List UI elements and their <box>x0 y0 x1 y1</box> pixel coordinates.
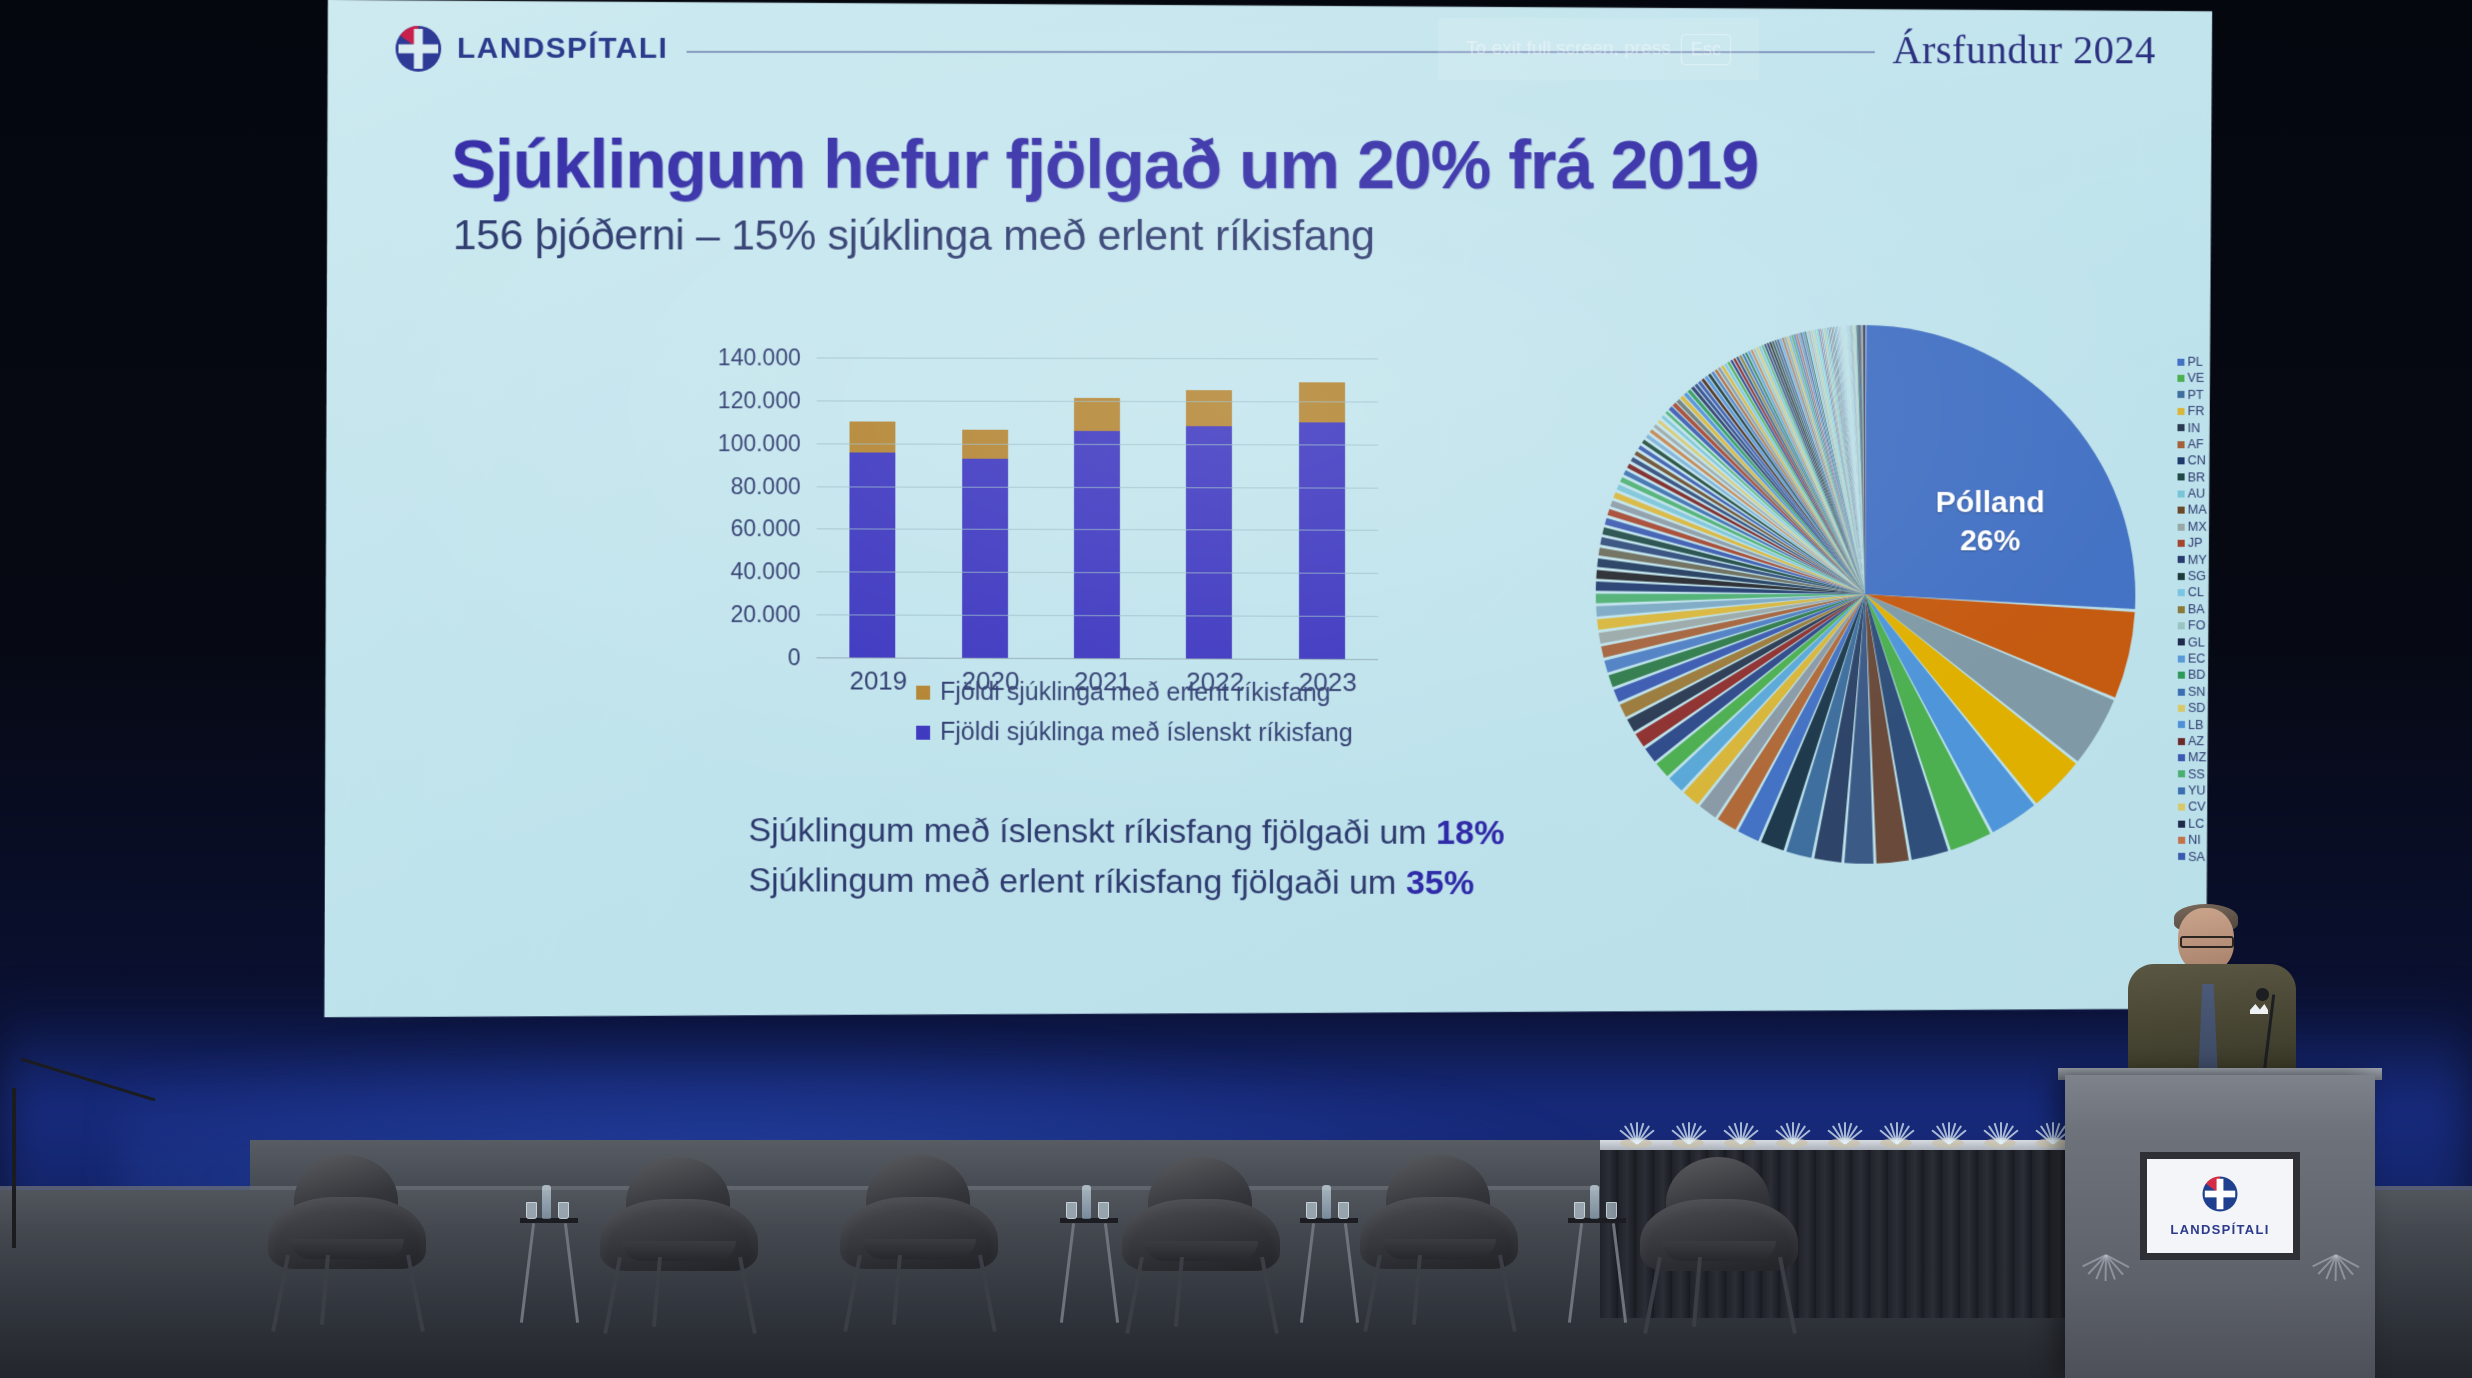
pie-legend-swatch <box>2178 589 2185 596</box>
y-axis-tick-label: 120.000 <box>718 387 801 414</box>
pie-legend-country-code: NI <box>2188 834 2201 847</box>
brand-name: LANDSPÍTALI <box>457 32 668 66</box>
pie-legend-country-code: GL <box>2188 636 2205 649</box>
pie-legend-country-code: AU <box>2188 488 2206 501</box>
bar-chart-legend: Fjöldi sjúklinga með erlent ríkisfangFjö… <box>916 678 1353 760</box>
bar-column <box>1186 358 1232 659</box>
side-table-leg <box>520 1223 535 1323</box>
conference-room-scene: LANDSPÍTALI Ársfundur 2024 To exit full … <box>0 0 2472 1378</box>
pie-legend-item: MX <box>2178 519 2214 536</box>
projection-screen: LANDSPÍTALI Ársfundur 2024 To exit full … <box>321 0 2214 1026</box>
pie-legend-swatch <box>2177 358 2184 365</box>
pie-legend-country-code: BA <box>2188 603 2205 616</box>
armchair-seat <box>1144 1241 1258 1261</box>
pie-legend-swatch <box>2178 804 2185 811</box>
pie-legend-country-code: FR <box>2188 405 2205 418</box>
pie-legend-country-code: SG <box>2188 570 2206 583</box>
pie-legend-swatch <box>2178 688 2185 695</box>
pie-legend-swatch <box>2177 408 2184 415</box>
slide-header: LANDSPÍTALI Ársfundur 2024 <box>394 18 2156 80</box>
boom-mic-stand <box>12 1088 16 1248</box>
pie-legend-item: LC <box>2178 816 2214 833</box>
podium-burst-right <box>2305 1225 2365 1285</box>
pie-legend-item: FO <box>2178 618 2214 635</box>
pie-legend-item: CV <box>2178 799 2214 816</box>
podium-brand-sign: LANDSPÍTALI <box>2140 1152 2300 1260</box>
nationality-pie-chart: Pólland 26% <box>1594 323 2138 867</box>
legend-swatch <box>916 685 930 699</box>
pie-legend-country-code: IN <box>2188 422 2201 435</box>
bar-segment-foreign <box>1299 382 1345 423</box>
water-glass <box>1098 1202 1109 1219</box>
y-axis-tick-label: 20.000 <box>730 601 800 628</box>
podium-brand-name: LANDSPÍTALI <box>2170 1222 2269 1237</box>
statement-text: Sjúklingum með íslenskt ríkisfang fjölga… <box>749 811 1437 852</box>
water-glass <box>526 1202 537 1219</box>
event-name: Ársfundur 2024 <box>1892 26 2155 73</box>
legend-item: Fjöldi sjúklinga með erlent ríkisfang <box>916 678 1353 708</box>
pie-legend-item: AZ <box>2178 733 2214 750</box>
pie-legend-country-code: BR <box>2188 471 2206 484</box>
statement-text: Sjúklingum með erlent ríkisfang fjölgaði… <box>748 861 1405 902</box>
statement-foreign-citizens: Sjúklingum með erlent ríkisfang fjölgaði… <box>748 861 1474 903</box>
bar-segment-foreign <box>1074 398 1120 431</box>
bar-segment-icelandic <box>850 453 896 658</box>
pie-legend-item: MY <box>2178 552 2214 569</box>
pie-legend-country-code: SS <box>2188 768 2205 781</box>
pie-legend-swatch <box>2178 787 2185 794</box>
water-bottle <box>1082 1185 1091 1219</box>
y-axis-tick-label: 140.000 <box>718 344 801 371</box>
speaker-person <box>2122 908 2302 1083</box>
pie-legend-swatch <box>2177 441 2184 448</box>
side-table-leg <box>1568 1223 1583 1323</box>
legend-label: Fjöldi sjúklinga með erlent ríkisfang <box>940 678 1330 708</box>
microphone-icon <box>2256 988 2269 1001</box>
bar-chart-y-axis: 020.00040.00060.00080.000100.000120.0001… <box>699 343 807 671</box>
gift-bouquet <box>1716 1114 1764 1148</box>
armchair <box>1360 1155 1518 1305</box>
pie-legend-country-code: AZ <box>2188 735 2204 748</box>
water-glass <box>1574 1202 1585 1219</box>
legend-label: Fjöldi sjúklinga með íslenskt ríkisfang <box>940 718 1353 748</box>
side-table <box>1060 1218 1118 1328</box>
pie-legend-swatch <box>2178 507 2185 514</box>
bar-segment-icelandic <box>962 458 1008 658</box>
statement-icelandic-citizens: Sjúklingum með íslenskt ríkisfang fjölga… <box>749 811 1505 853</box>
pie-legend-item: PL <box>2177 354 2213 371</box>
pie-legend-swatch <box>2178 573 2185 580</box>
pie-legend-item: GL <box>2178 634 2214 651</box>
podium-burst-left <box>2075 1225 2135 1285</box>
pie-legend-swatch <box>2178 655 2185 662</box>
pie-legend-item: MA <box>2178 502 2214 519</box>
pie-legend-item: MZ <box>2178 750 2214 767</box>
pie-legend-item: BD <box>2178 667 2214 684</box>
pie-legend-country-code: MY <box>2188 554 2207 567</box>
x-axis-tick-label: 2019 <box>850 665 896 696</box>
armchair <box>1640 1157 1798 1307</box>
side-table-leg <box>1344 1223 1359 1323</box>
pie-legend-item: SA <box>2178 849 2214 866</box>
bar-column <box>1074 358 1120 658</box>
gift-bouquet <box>1612 1114 1660 1148</box>
pie-chart-svg <box>1594 323 2138 867</box>
brand-lockup: LANDSPÍTALI <box>394 24 669 74</box>
pie-legend-country-code: AF <box>2188 438 2204 451</box>
eyeglasses-icon <box>2180 936 2234 948</box>
pie-legend-swatch <box>2178 820 2185 827</box>
pie-legend-swatch <box>2177 375 2184 382</box>
pie-legend-country-code: JP <box>2188 537 2203 550</box>
header-divider-rule <box>686 51 1874 53</box>
pie-legend-item: CN <box>2178 453 2214 470</box>
pie-legend-country-code: BD <box>2188 669 2206 682</box>
pie-legend-item: AU <box>2178 486 2214 503</box>
pie-legend-swatch <box>2178 556 2185 563</box>
podium-landspitali-logo-icon <box>2201 1175 2239 1218</box>
y-axis-tick-label: 60.000 <box>731 515 801 542</box>
pie-legend-swatch <box>2178 490 2185 497</box>
pie-legend-swatch <box>2178 639 2185 646</box>
pie-legend-item: AF <box>2177 436 2213 453</box>
pie-legend-item: EC <box>2178 651 2214 668</box>
pie-legend-swatch <box>2178 771 2185 778</box>
bar-column <box>962 358 1008 658</box>
pie-legend-country-code: PT <box>2188 389 2204 402</box>
armchair-seat <box>862 1239 976 1259</box>
gift-bouquet <box>1664 1114 1712 1148</box>
armchair-seat <box>622 1241 736 1261</box>
gift-bouquet <box>1924 1114 1972 1148</box>
armchair-seat <box>1662 1241 1776 1261</box>
side-table-leg <box>1104 1223 1119 1323</box>
bar-segment-icelandic <box>1186 426 1232 659</box>
armchair-seat <box>1382 1239 1496 1259</box>
water-bottle <box>542 1185 551 1219</box>
slide-subtitle: 156 þjóðerni – 15% sjúklinga með erlent … <box>453 211 1375 261</box>
pie-chart-legend: PLUSLTROUAVEGBLVPHDEPTESVNDKITFRSYPSHRIQ… <box>2177 354 2213 866</box>
armchair <box>268 1155 426 1305</box>
pie-legend-swatch <box>2178 672 2185 679</box>
pie-legend-swatch <box>2178 540 2185 547</box>
statement-value: 35% <box>1406 864 1474 902</box>
pie-legend-swatch <box>2178 606 2185 613</box>
pie-legend-country-code: MZ <box>2188 751 2206 764</box>
pie-legend-country-code: FO <box>2188 620 2206 633</box>
pie-legend-swatch <box>2177 391 2184 398</box>
bar-chart-plot-area <box>816 357 1378 659</box>
side-table <box>1300 1218 1358 1328</box>
gift-bouquet <box>1976 1114 2024 1148</box>
stacked-bar-chart: 020.00040.00060.00080.000100.000120.0001… <box>699 357 1378 659</box>
pie-legend-country-code: CN <box>2188 455 2206 468</box>
pie-legend-item: LB <box>2178 717 2214 734</box>
pie-legend-country-code: LC <box>2188 818 2204 831</box>
bar-segment-icelandic <box>1299 423 1345 659</box>
pie-legend-country-code: CL <box>2188 587 2204 600</box>
armchair <box>1122 1157 1280 1307</box>
pie-legend-swatch <box>2178 853 2185 860</box>
pie-legend-country-code: YU <box>2188 785 2206 798</box>
pie-legend-country-code: CV <box>2188 801 2206 814</box>
bar-segment-foreign <box>1186 390 1232 425</box>
pie-legend-item: SD <box>2178 700 2214 717</box>
pie-legend-swatch <box>2178 457 2185 464</box>
pie-legend-swatch <box>2178 754 2185 761</box>
water-glass <box>1306 1202 1317 1219</box>
presentation-slide: LANDSPÍTALI Ársfundur 2024 To exit full … <box>321 0 2214 1026</box>
y-axis-tick-label: 80.000 <box>731 472 801 499</box>
pie-legend-swatch <box>2177 424 2184 431</box>
pie-legend-country-code: EC <box>2188 652 2206 665</box>
side-table-leg <box>1300 1223 1315 1323</box>
side-table-leg <box>1060 1223 1075 1323</box>
pie-legend-country-code: PL <box>2187 356 2202 369</box>
pie-legend-item: IN <box>2177 420 2213 437</box>
side-table-leg <box>564 1223 579 1323</box>
pie-slice-percent: 26% <box>1936 522 2045 560</box>
bar-segment-foreign <box>850 422 896 453</box>
pie-legend-item: BR <box>2178 469 2214 486</box>
pie-legend-country-code: MX <box>2188 521 2207 534</box>
water-glass <box>558 1202 569 1219</box>
side-table <box>1568 1218 1626 1328</box>
water-bottle <box>1590 1185 1599 1219</box>
gift-bouquet <box>1768 1114 1816 1148</box>
slide-title: Sjúklingum hefur fjölgað um 20% frá 2019 <box>451 126 1758 205</box>
water-bottle <box>1322 1185 1331 1219</box>
armchair <box>600 1157 758 1307</box>
side-table-leg <box>1612 1223 1627 1323</box>
armchair-seat <box>290 1239 404 1259</box>
legend-swatch <box>916 725 930 739</box>
pie-legend-swatch <box>2178 523 2185 530</box>
pie-legend-item: CL <box>2178 585 2214 602</box>
y-axis-tick-label: 40.000 <box>730 558 800 585</box>
pie-legend-item: SS <box>2178 766 2214 783</box>
side-table <box>520 1218 578 1328</box>
armchair <box>840 1155 998 1305</box>
pie-legend-country-code: LB <box>2188 718 2203 731</box>
bar-column <box>1299 358 1345 659</box>
pie-legend-item: VE <box>2177 370 2213 387</box>
pie-largest-slice-label: Pólland 26% <box>1936 484 2045 560</box>
pie-legend-item: SG <box>2178 568 2214 585</box>
pie-legend-item: SN <box>2178 684 2214 701</box>
pie-legend-swatch <box>2178 705 2185 712</box>
pie-legend-country-code: VE <box>2187 372 2204 385</box>
y-axis-tick-label: 100.000 <box>718 429 801 456</box>
bar-segment-icelandic <box>1074 431 1120 658</box>
legend-item: Fjöldi sjúklinga með íslenskt ríkisfang <box>916 718 1353 749</box>
water-glass <box>1606 1202 1617 1219</box>
pie-legend-swatch <box>2178 837 2185 844</box>
gift-bouquet <box>1872 1114 1920 1148</box>
pie-legend-country-code: MA <box>2188 504 2207 517</box>
pie-legend-item: FR <box>2177 403 2213 420</box>
pie-legend-item: JP <box>2178 535 2214 552</box>
statement-value: 18% <box>1436 814 1504 852</box>
y-axis-tick-label: 0 <box>788 644 801 671</box>
pie-legend-item: BA <box>2178 601 2214 618</box>
pie-legend-item: NI <box>2178 832 2214 849</box>
landspitali-cross-logo-icon <box>394 24 444 74</box>
pie-legend-country-code: SN <box>2188 685 2206 698</box>
bar-column <box>850 358 896 658</box>
pie-legend-swatch <box>2178 622 2185 629</box>
water-glass <box>1066 1202 1077 1219</box>
pie-legend-swatch <box>2178 474 2185 481</box>
water-glass <box>1338 1202 1349 1219</box>
gift-bouquet <box>1820 1114 1868 1148</box>
pie-legend-swatch <box>2178 721 2185 728</box>
pie-slice-country: Pólland <box>1936 484 2045 522</box>
pie-legend-item: YU <box>2178 783 2214 800</box>
pie-legend-country-code: SD <box>2188 702 2206 715</box>
pie-legend-country-code: SA <box>2188 851 2205 864</box>
pie-legend-swatch <box>2178 738 2185 745</box>
pie-slice <box>1865 325 2135 609</box>
pie-legend-item: PT <box>2177 387 2213 404</box>
